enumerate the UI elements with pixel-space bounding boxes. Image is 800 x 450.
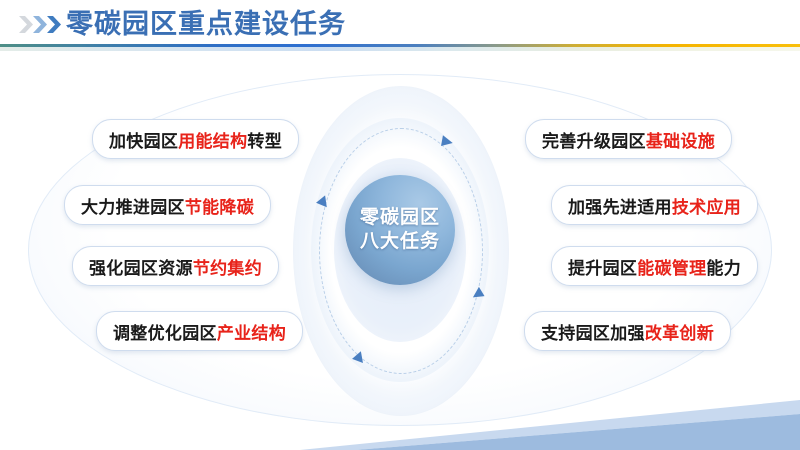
task-text-prefix: 调整优化园区 (113, 319, 217, 344)
task-pill-right-4[interactable]: 支持园区加强改革创新 (524, 311, 731, 351)
center-title-line-2: 八大任务 (360, 230, 440, 254)
task-pill-left-4[interactable]: 调整优化园区产业结构 (96, 311, 303, 351)
task-text-highlight: 用能结构 (178, 127, 247, 152)
center-core-circle: 零碳园区 八大任务 (345, 175, 455, 285)
task-pill-right-3[interactable]: 提升园区能碳管理能力 (551, 246, 758, 286)
task-text-suffix: 转型 (247, 127, 282, 152)
page-title: 零碳园区重点建设任务 (66, 6, 346, 42)
task-text-prefix: 提升园区 (568, 254, 637, 279)
task-text-highlight: 节能降碳 (185, 193, 254, 218)
task-text-prefix: 大力推进园区 (81, 193, 185, 218)
task-pill-left-1[interactable]: 加快园区用能结构转型 (92, 119, 299, 159)
task-text-highlight: 节约集约 (193, 254, 262, 279)
task-text-highlight: 基础设施 (646, 127, 715, 152)
task-text-prefix: 完善升级园区 (542, 127, 646, 152)
task-text-highlight: 改革创新 (645, 319, 714, 344)
task-text-prefix: 加快园区 (109, 127, 178, 152)
task-text-highlight: 能碳管理 (637, 254, 706, 279)
task-pill-right-2[interactable]: 加强先进适用技术应用 (551, 185, 758, 225)
task-text-highlight: 技术应用 (672, 193, 741, 218)
task-pill-left-3[interactable]: 强化园区资源节约集约 (72, 246, 279, 286)
task-pill-left-2[interactable]: 大力推进园区节能降碳 (64, 185, 271, 225)
task-pill-right-1[interactable]: 完善升级园区基础设施 (525, 119, 732, 159)
slide-canvas: 零碳园区重点建设任务 零碳园区 八大任务 加快园区用能结构转型 大力推进园区节能… (0, 0, 800, 450)
task-text-prefix: 强化园区资源 (89, 254, 193, 279)
double-chevron-right-icon (18, 14, 64, 35)
bottom-diagonal-bands (0, 380, 800, 450)
center-title-line-1: 零碳园区 (360, 206, 440, 230)
task-text-suffix: 能力 (706, 254, 741, 279)
header-divider-shadow (0, 47, 800, 51)
task-text-prefix: 支持园区加强 (541, 319, 645, 344)
slide-header: 零碳园区重点建设任务 (0, 0, 800, 52)
task-text-prefix: 加强先进适用 (568, 193, 672, 218)
task-text-highlight: 产业结构 (217, 319, 286, 344)
header-divider (0, 44, 800, 51)
